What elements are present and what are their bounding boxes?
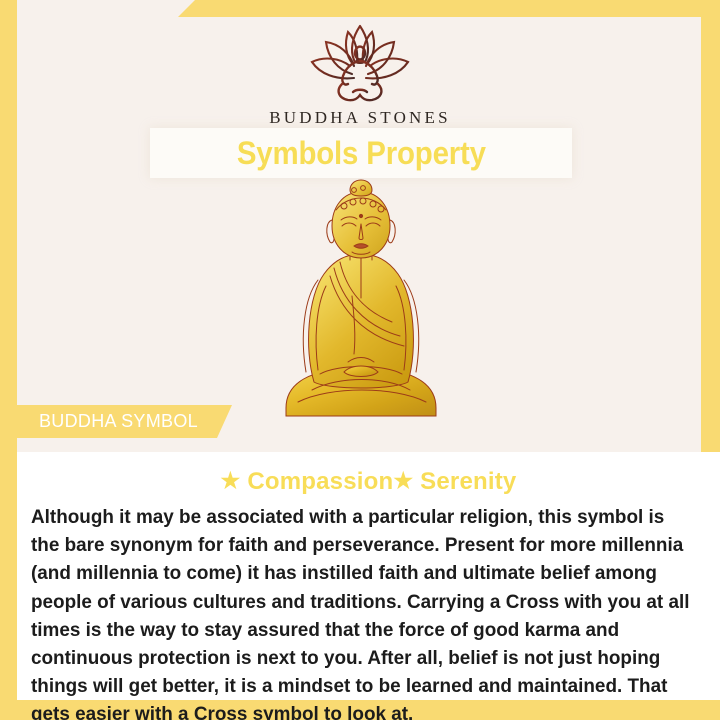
attribute-compassion: Compassion	[247, 468, 393, 495]
page-title: Symbols Property	[236, 135, 485, 172]
decor-band-top	[0, 0, 720, 17]
brand-logo: BUDDHA STONES	[0, 22, 720, 128]
buddha-symbol-tag-label: BUDDHA SYMBOL	[39, 411, 198, 432]
star-icon-right: ★	[393, 468, 413, 493]
content-paragraph: Although it may be associated with a par…	[31, 504, 692, 720]
lotus-meditation-icon	[296, 22, 424, 106]
content-card: ★ Compassion★ Serenity Although it may b…	[17, 452, 720, 700]
buddha-symbol-tag: BUDDHA SYMBOL	[17, 405, 232, 438]
seated-buddha-statue-illustration	[268, 176, 454, 422]
brand-name: BUDDHA STONES	[0, 108, 720, 128]
star-icon-left: ★	[221, 468, 241, 493]
content-subheading: ★ Compassion★ Serenity	[17, 468, 720, 496]
attribute-serenity: Serenity	[420, 468, 516, 495]
title-plate: Symbols Property	[150, 128, 572, 178]
poster-root: BUDDHA STONES Symbols Property	[0, 0, 720, 720]
